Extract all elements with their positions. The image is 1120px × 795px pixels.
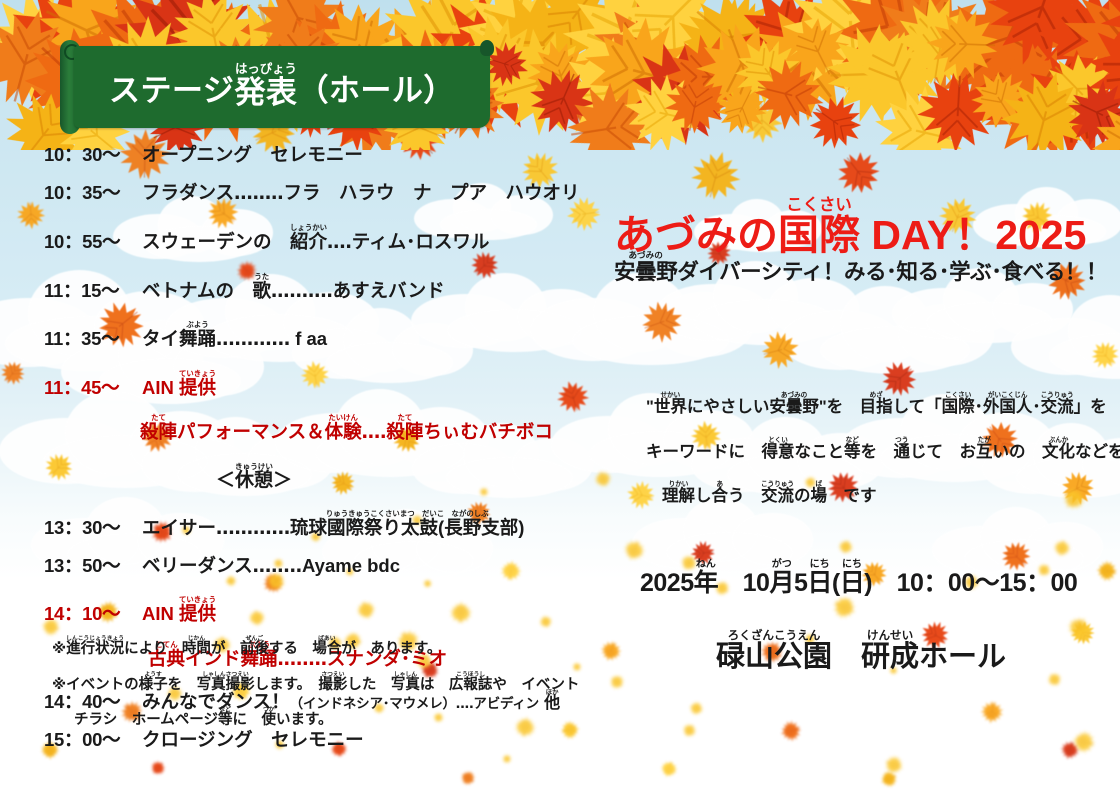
date-furigana: にち — [840, 559, 865, 570]
venue-rest: ホール — [919, 641, 1006, 673]
maple-leaf-icon — [993, 20, 1120, 150]
schedule-row: 11：35〜タイ舞踊ぶよう‥‥‥‥‥‥ f aa — [44, 320, 604, 349]
banner-title-ruby-group: 発表はっぴょう — [234, 62, 297, 112]
maple-leaf-icon — [656, 0, 808, 116]
note-ruby-group: 写真しゃしん — [391, 677, 420, 693]
event-title-furigana: こくさい — [778, 196, 860, 214]
maple-leaf-icon — [687, 699, 706, 718]
intermission-ruby-group: ＜休憩＞きゅうけい — [216, 470, 292, 491]
maple-leaf-icon — [657, 66, 733, 142]
schedule-time: 11：35〜 — [44, 330, 128, 349]
schedule-time: 13：30〜 — [44, 519, 128, 538]
maple-leaf-icon — [1025, 0, 1120, 109]
maple-leaf-icon — [1063, 611, 1095, 643]
note-furigana: つか — [261, 707, 275, 713]
desc-furigana: つう — [894, 437, 911, 444]
description-line: 理解りかいし合あう 交流こうりゅうの場ば です — [662, 481, 1076, 505]
maple-leaf-icon — [913, 66, 1003, 150]
maple-leaf-icon — [568, 1, 709, 142]
maple-leaf-icon — [820, 19, 929, 128]
schedule-sub-ruby-group: 殺陣たて — [140, 421, 177, 442]
schedule-sub-furigana: たて — [140, 413, 177, 422]
banner-title-post: （ホール） — [297, 65, 455, 110]
maple-leaf-icon — [606, 19, 753, 150]
maple-leaf-icon — [511, 0, 641, 80]
desc-ruby-group: 目指めざ — [860, 398, 893, 416]
desc-furigana: あ — [712, 481, 729, 488]
maple-leaf-icon — [1095, 559, 1119, 583]
maple-leaf-icon — [1048, 0, 1120, 125]
maple-leaf-icon — [547, 29, 675, 150]
schedule-sub-furigana: たいけん — [325, 413, 362, 422]
schedule-title-post: ‥‥ティム･ロスワル — [327, 231, 489, 252]
event-description: "世界せかいにやさしい安曇野あづみの"を 目指めざして「国際こくさい･外国人がい… — [646, 392, 1076, 526]
footnote-line: ※イベントの様子ようすを 写真撮影しゃしんさつえいします。 撮影さつえいした 写… — [52, 672, 572, 693]
date-ruby-group: 月がつ — [769, 569, 794, 597]
desc-ruby-group: 交流こうりゅう — [761, 487, 794, 505]
desc-furigana: りかい — [662, 481, 695, 488]
schedule-ruby-group: 提供ていきょう — [179, 603, 216, 624]
maple-leaf-icon — [881, 752, 907, 778]
schedule-title-pre: タイ — [142, 328, 179, 349]
note-ruby-group: 広報誌こうほうし — [449, 677, 493, 693]
schedule-ruby-base: 提供 — [179, 377, 216, 398]
event-time-range: 10：00〜15：00 — [897, 569, 1078, 597]
note-ruby-group: 時間じかん — [182, 641, 211, 657]
desc-furigana: こうりゅう — [1041, 392, 1074, 399]
desc-furigana: たが — [976, 437, 993, 444]
note-furigana: ぜんご — [240, 636, 269, 642]
maple-leaf-icon — [743, 49, 834, 140]
schedule-time: 11：15〜 — [44, 282, 128, 301]
footnote-line: チラシ ホームページ等などに 使つかいます。 — [74, 707, 572, 728]
maple-leaf-icon — [661, 32, 751, 122]
date-month-num: 10 — [743, 569, 770, 597]
schedule-time: 10：55〜 — [44, 233, 128, 252]
note-ruby-group: 撮影さつえい — [318, 677, 347, 693]
maple-leaf-icon — [956, 56, 1043, 143]
date-ruby-group: 日にち — [807, 569, 832, 597]
desc-ruby-group: 世界せかい — [654, 398, 687, 416]
maple-leaf-icon — [743, 0, 883, 129]
schedule-row: 10：30〜オープニング セレモニー — [44, 146, 604, 165]
maple-leaf-icon — [707, 0, 872, 123]
maple-leaf-icon — [1021, 32, 1120, 150]
desc-furigana: ば — [811, 481, 828, 488]
event-subtitle-rest: ダイバーシティ！みる･知る･学ぶ･食べる！！ — [677, 260, 1107, 284]
schedule-furigana: ぶよう — [179, 320, 216, 329]
schedule-title-pre: スウェーデンの — [142, 231, 290, 252]
schedule-title: オープニング セレモニー — [142, 144, 363, 165]
schedule-ruby-base: 提供 — [179, 603, 216, 624]
schedule-row: 10：35〜フラダンス‥‥‥‥フラ ハラウ ナ プア ハウオリ — [44, 184, 604, 203]
schedule-ruby-group: 提供ていきょう — [179, 377, 216, 398]
maple-leaf-icon — [529, 0, 735, 148]
desc-furigana: こくさい — [942, 392, 975, 399]
note-furigana: しゃしん — [391, 672, 420, 678]
schedule-time: 10：30〜 — [44, 146, 128, 165]
schedule-sub-text: パフォーマンス＆ — [177, 421, 325, 442]
maple-leaf-icon — [651, 0, 810, 137]
schedule-sub-furigana: たて — [386, 413, 423, 422]
maple-leaf-icon — [471, 11, 612, 150]
maple-leaf-icon — [705, 74, 778, 147]
description-line: "世界せかいにやさしい安曇野あづみの"を 目指めざして「国際こくさい･外国人がい… — [646, 392, 1076, 416]
venue-furigana: ろくざんこうえん — [716, 629, 832, 642]
desc-ruby-group: 場ば — [811, 487, 828, 505]
schedule-ruby-base: 歌 — [252, 280, 271, 301]
desc-ruby-group: 交流こうりゅう — [1041, 398, 1074, 416]
poster-canvas: ステージ発表はっぴょう（ホール） 10：30〜オープニング セレモニー 10：3… — [0, 0, 1120, 795]
maple-leaf-icon — [516, 55, 609, 148]
date-ruby-group: 年ねん — [694, 569, 719, 597]
maple-leaf-icon — [777, 717, 804, 744]
desc-furigana: こうりゅう — [761, 481, 794, 488]
maple-leaf-icon — [516, 29, 603, 116]
note-furigana: しんこうじょうきょう — [66, 636, 124, 642]
maple-leaf-icon — [923, 4, 1002, 83]
desc-ruby-group: 理解りかい — [662, 487, 695, 505]
description-line: キーワードに 得意とくいなこと等などを 通つうじて お互たがいの 文化ぶんかなど… — [646, 437, 1076, 461]
schedule-ruby-base: 舞踊 — [179, 328, 216, 349]
event-subtitle-furigana: あづみの — [614, 250, 677, 260]
schedule-title: ベリーダンス‥‥‥‥Ayame bdc — [142, 555, 400, 576]
schedule-ruby-base: 紹介 — [290, 231, 327, 252]
date-year-num: 2025 — [640, 569, 694, 597]
stage-banner: ステージ発表はっぴょう（ホール） — [60, 46, 490, 128]
schedule-sub-text: ちぃむバチボコ — [423, 421, 553, 442]
schedule-subrow-ain-1: 殺陣たてパフォーマンス＆体験たいけん‥‥殺陣たてちぃむバチボコ — [140, 413, 604, 444]
maple-leaf-icon — [1079, 0, 1120, 91]
date-furigana: ねん — [694, 559, 719, 570]
maple-leaf-icon — [863, 73, 980, 150]
banner-title-pre: ステージ — [109, 65, 234, 110]
footnotes: ※進行状況しんこうじょうきょうにより 時間じかんが 前後ぜんごする 場合ばあいが… — [52, 636, 572, 743]
date-furigana: がつ — [769, 559, 794, 570]
maple-leaf-icon — [1044, 669, 1065, 690]
desc-furigana: がいこくじん — [983, 392, 1033, 399]
date-furigana: にち — [807, 559, 832, 570]
schedule-title-post: ‥‥‥‥‥‥ f aa — [216, 328, 327, 349]
maple-leaf-icon — [796, 82, 876, 150]
desc-ruby-group: 外国人がいこくじん — [983, 398, 1033, 416]
maple-leaf-icon — [147, 757, 170, 780]
maple-leaf-icon — [573, 0, 731, 131]
schedule-ruby-group: 歌うた — [252, 280, 271, 301]
schedule-sub-text: ‥‥ — [362, 421, 387, 442]
maple-leaf-icon — [658, 758, 681, 781]
desc-ruby-group: 等など — [844, 443, 861, 461]
schedule-furigana: りゅうきゅうこくさいまつ だいこ ながのしぶ — [290, 509, 524, 518]
maple-leaf-icon — [614, 64, 713, 150]
schedule-sub-ruby-group: 体験たいけん — [325, 421, 362, 442]
event-venue: 碌山公園ろくざんこうえん 研成けんせいホール — [716, 629, 1006, 675]
maple-leaf-icon — [716, 20, 817, 121]
desc-furigana: など — [844, 437, 861, 444]
banner-title-base: 発表 — [234, 75, 297, 110]
schedule-title-pre: エイサー‥‥‥‥‥‥ — [142, 517, 290, 538]
maple-leaf-icon — [585, 0, 752, 105]
maple-leaf-icon — [1080, 84, 1120, 150]
note-furigana: さつえい — [318, 672, 347, 678]
schedule-row: 13：50〜ベリーダンス‥‥‥‥Ayame bdc — [44, 557, 604, 576]
maple-leaf-icon — [556, 73, 666, 150]
date-day-num: 5 — [794, 569, 807, 597]
maple-leaf-icon — [967, 0, 1113, 86]
schedule-ruby-group: 舞踊ぶよう — [179, 328, 216, 349]
maple-leaf-icon — [963, 28, 1113, 150]
maple-leaf-icon — [940, 0, 1089, 111]
desc-ruby-group: 合あ — [712, 487, 729, 505]
schedule-title-pre: AIN — [142, 603, 179, 624]
maple-leaf-icon — [894, 6, 985, 97]
maple-leaf-icon — [877, 767, 901, 791]
schedule-title-post: ‥‥‥‥‥あすえバンド — [271, 280, 445, 301]
date-ruby-group: 日にち — [840, 569, 865, 597]
schedule-title: フラダンス‥‥‥‥フラ ハラウ ナ プア ハウオリ — [142, 182, 580, 203]
schedule-title-pre: ベトナムの — [142, 280, 252, 301]
event-datetime: 2025年ねん 10月がつ5日にち(日にち) 10：00〜15：00 — [640, 559, 1077, 599]
desc-furigana: せかい — [654, 392, 687, 399]
event-subtitle-ruby-group: 安曇野あづみの — [614, 260, 677, 284]
maple-leaf-icon — [1070, 727, 1099, 756]
maple-leaf-icon — [832, 11, 963, 142]
venue-base-2: 研成 — [861, 641, 919, 673]
maple-leaf-icon — [606, 671, 628, 693]
note-furigana: こうほうし — [449, 672, 493, 678]
venue-ruby-group: 研成けんせい — [861, 641, 919, 673]
schedule-ruby-group: 紹介しょうかい — [290, 231, 327, 252]
note-furigana: ようす — [139, 672, 168, 678]
note-ruby-group: 進行状況しんこうじょうきょう — [66, 641, 124, 657]
maple-leaf-icon — [1054, 0, 1120, 150]
schedule-title-pre: AIN — [142, 377, 179, 398]
note-furigana: しゃしんさつえい — [197, 672, 255, 678]
maple-leaf-icon — [500, 752, 514, 766]
schedule-time: 13：50〜 — [44, 557, 128, 576]
desc-furigana: ぶんか — [1042, 437, 1075, 444]
venue-base: 碌山公園 — [716, 641, 832, 673]
maple-leaf-icon — [680, 5, 806, 131]
maple-leaf-icon — [1058, 738, 1083, 763]
maple-leaf-icon — [770, 2, 863, 95]
banner-title: ステージ発表はっぴょう（ホール） — [74, 46, 490, 128]
event-subtitle: 安曇野あづみのダイバーシティ！みる･知る･学ぶ･食べる！！ — [614, 250, 1107, 286]
schedule-time: 14：10〜 — [44, 605, 128, 624]
schedule-furigana: うた — [252, 272, 271, 281]
schedule-furigana: しょうかい — [290, 223, 327, 232]
maple-leaf-icon — [1052, 66, 1120, 150]
note-ruby-group: 様子ようす — [139, 677, 168, 693]
schedule-row: 10：55〜スウェーデンの 紹介しょうかい‥‥ティム･ロスワル — [44, 223, 604, 252]
maple-leaf-icon — [679, 720, 700, 741]
maple-leaf-icon — [978, 698, 1005, 725]
maple-leaf-icon — [457, 767, 479, 789]
schedule-furigana: ていきょう — [179, 595, 216, 604]
schedule-time: 11：45〜 — [44, 379, 128, 398]
footnote-line: ※進行状況しんこうじょうきょうにより 時間じかんが 前後ぜんごする 場合ばあいが… — [52, 636, 572, 657]
desc-furigana: あづみの — [769, 392, 819, 399]
note-furigana: じかん — [182, 636, 211, 642]
maple-leaf-icon — [15, 199, 47, 231]
schedule-row: 11：15〜ベトナムの 歌うた‥‥‥‥‥あすえバンド — [44, 272, 604, 301]
desc-ruby-group: 得意とくい — [762, 443, 795, 461]
maple-leaf-icon — [844, 0, 1015, 124]
schedule-sub-ruby-group: 殺陣たて — [386, 421, 423, 442]
maple-leaf-icon — [801, 0, 999, 133]
venue-ruby-group: 碌山公園ろくざんこうえん — [716, 641, 832, 673]
schedule-ruby-group: 琉球國際祭り太鼓(長野支部)りゅうきゅうこくさいまつ だいこ ながのしぶ — [290, 517, 524, 538]
maple-leaf-icon — [987, 58, 1102, 150]
desc-ruby-group: 国際こくさい — [942, 398, 975, 416]
desc-ruby-group: 通つう — [894, 443, 911, 461]
intermission-label: ＜休憩＞きゅうけい — [216, 462, 604, 492]
note-furigana: ばあい — [312, 636, 341, 642]
maple-leaf-icon — [888, 0, 982, 88]
schedule-row-ain-2: 14：10〜AIN 提供ていきょう — [44, 595, 604, 624]
event-subtitle-base: 安曇野 — [614, 260, 677, 284]
desc-ruby-group: 安曇野あづみの — [769, 398, 819, 416]
maple-leaf-icon — [836, 537, 855, 556]
note-ruby-group: 写真撮影しゃしんさつえい — [197, 677, 255, 693]
schedule-row: 13：30〜エイサー‥‥‥‥‥‥琉球國際祭り太鼓(長野支部)りゅうきゅうこくさい… — [44, 509, 604, 538]
banner-title-furigana: はっぴょう — [234, 62, 297, 76]
schedule-furigana: ていきょう — [179, 369, 216, 378]
note-ruby-group: 使つか — [261, 712, 276, 728]
maple-leaf-icon — [772, 0, 930, 107]
venue-furigana-2: けんせい — [861, 629, 919, 642]
intermission-furigana: きゅうけい — [216, 462, 292, 471]
note-ruby-group: 等など — [218, 712, 233, 728]
desc-furigana: めざ — [860, 392, 893, 399]
note-ruby-group: 場合ばあい — [312, 641, 341, 657]
schedule-time: 10：35〜 — [44, 184, 128, 203]
maple-leaf-icon — [923, 0, 1076, 134]
note-furigana: など — [218, 707, 232, 713]
maple-leaf-icon — [1065, 615, 1101, 651]
desc-ruby-group: 文化ぶんか — [1042, 443, 1075, 461]
desc-ruby-group: 互たが — [976, 443, 993, 461]
note-ruby-group: 前後ぜんご — [240, 641, 269, 657]
schedule-row-ain-1: 11：45〜AIN 提供ていきょう — [44, 369, 604, 398]
desc-furigana: とくい — [762, 437, 795, 444]
